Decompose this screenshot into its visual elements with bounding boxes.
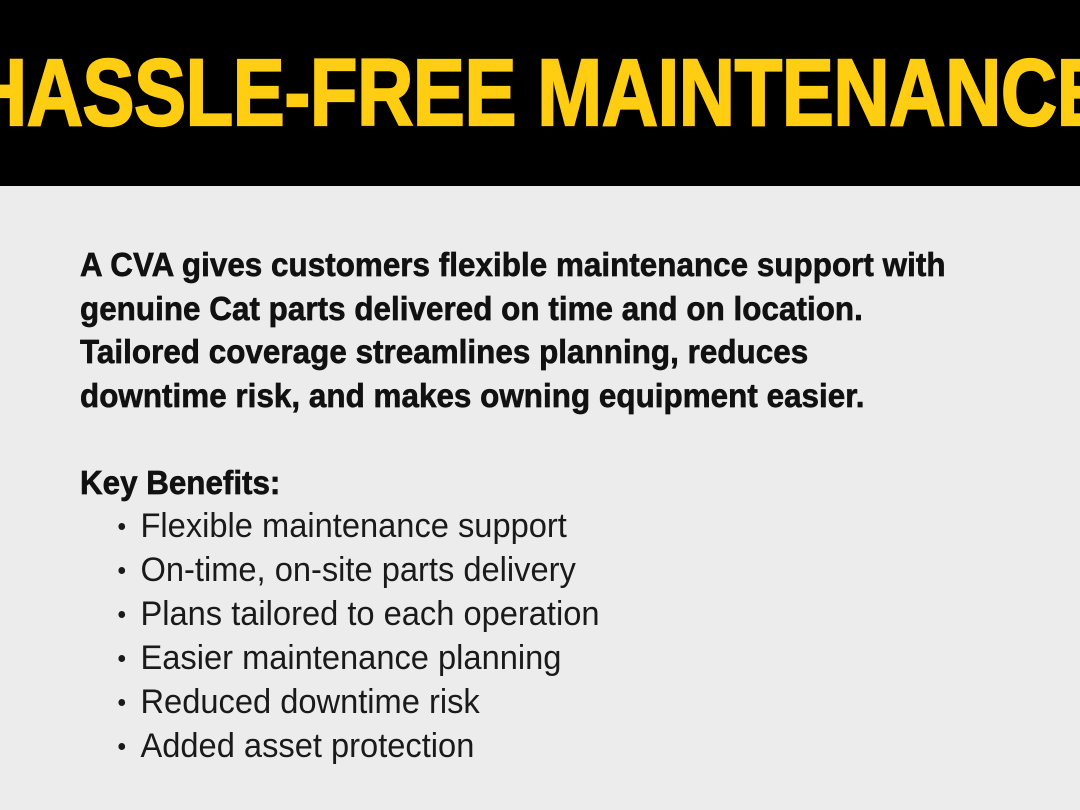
list-item-label: Easier maintenance planning	[140, 639, 561, 677]
list-item: On-time, on-site parts delivery	[80, 548, 963, 592]
list-item: Added asset protection	[80, 724, 963, 768]
bullet-dot-icon	[118, 523, 125, 530]
key-benefits-list: Flexible maintenance support On-time, on…	[80, 504, 1000, 768]
key-benefits-heading: Key Benefits:	[80, 461, 954, 505]
list-item-label: Reduced downtime risk	[140, 683, 479, 721]
list-item-label: Plans tailored to each operation	[140, 595, 599, 633]
bullet-dot-icon	[118, 611, 125, 618]
bullet-dot-icon	[118, 743, 125, 750]
slide-root: HASSLE-FREE MAINTENANCE A CVA gives cust…	[0, 0, 1080, 810]
bullet-dot-icon	[118, 655, 125, 662]
bullet-dot-icon	[118, 567, 125, 574]
list-item-label: Flexible maintenance support	[140, 507, 566, 545]
header-band: HASSLE-FREE MAINTENANCE	[0, 0, 1080, 186]
intro-paragraph: A CVA gives customers flexible maintenan…	[80, 243, 954, 417]
bullet-dot-icon	[118, 699, 125, 706]
list-item: Easier maintenance planning	[80, 636, 963, 680]
list-item-label: On-time, on-site parts delivery	[140, 551, 575, 589]
page-title: HASSLE-FREE MAINTENANCE	[0, 46, 1080, 141]
list-item-label: Added asset protection	[140, 727, 474, 765]
list-item: Reduced downtime risk	[80, 680, 963, 724]
body-content: A CVA gives customers flexible maintenan…	[0, 186, 1080, 810]
list-item: Flexible maintenance support	[80, 504, 963, 548]
list-item: Plans tailored to each operation	[80, 592, 963, 636]
